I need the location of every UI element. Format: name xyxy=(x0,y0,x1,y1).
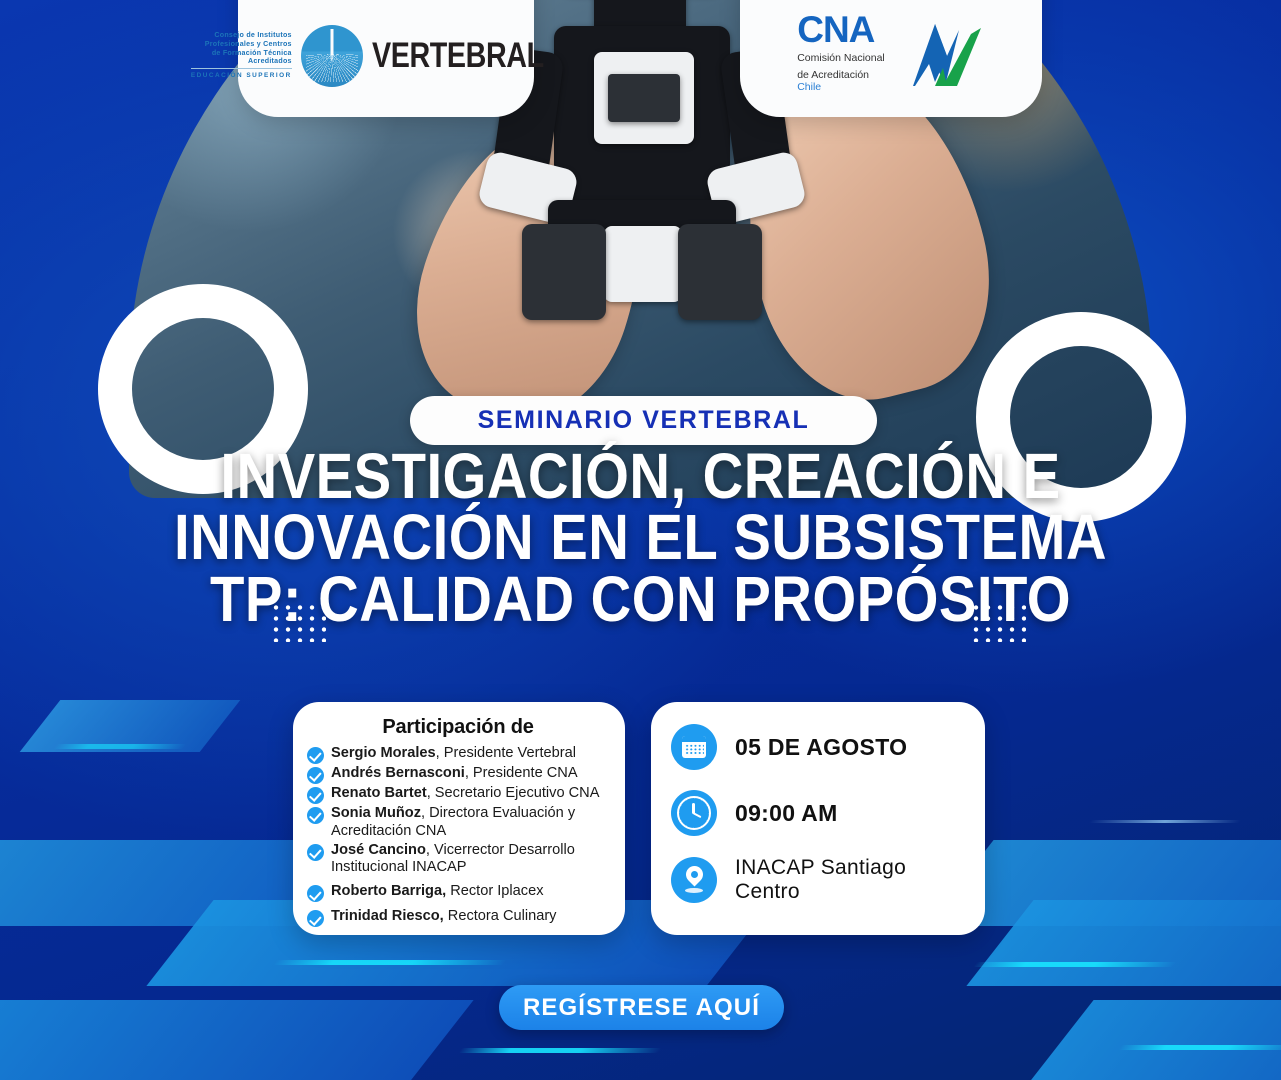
detail-row-location: INACAP Santiago Centro xyxy=(671,856,965,903)
vertebral-tagline: EDUCACIÓN SUPERIOR xyxy=(191,72,292,80)
vertebral-wordmark: VERTEBRAL xyxy=(372,36,544,76)
participant-role: , Presidente Vertebral xyxy=(436,745,576,761)
participant-name: Trinidad Riesco, xyxy=(331,908,444,924)
diagonal-glow-line xyxy=(273,960,507,965)
participant-name: Renato Bartet xyxy=(331,785,427,801)
cna-name-line2: de Acreditación xyxy=(797,69,885,81)
participant-name: Sonia Muñoz xyxy=(331,805,421,821)
dot-grid-left-icon xyxy=(268,600,326,642)
list-item: José Cancino, Vicerrector Desarrollo Ins… xyxy=(307,842,609,878)
check-icon xyxy=(307,844,324,861)
diagonal-glow-line xyxy=(1118,1045,1281,1050)
event-time: 09:00 AM xyxy=(735,800,838,827)
register-button[interactable]: REGÍSTRESE AQUÍ xyxy=(499,985,784,1030)
diagonal-bar xyxy=(20,700,241,752)
dot-grid-right-icon xyxy=(968,600,1026,642)
check-icon xyxy=(307,787,324,804)
detail-row-date: 05 DE AGOSTO xyxy=(671,724,965,770)
vertebral-descriptor-line1: Consejo de Institutos xyxy=(191,31,292,40)
diagonal-glow-line xyxy=(973,962,1177,967)
seminar-eyebrow-label: SEMINARIO VERTEBRAL xyxy=(478,406,810,435)
participant-role: , Presidente CNA xyxy=(465,765,578,781)
list-item: Andrés Bernasconi, Presidente CNA xyxy=(307,765,609,784)
vertebral-roots-icon xyxy=(301,25,363,87)
logo-card-cna: CNA Comisión Nacional de Acreditación Ch… xyxy=(740,0,1042,117)
calendar-icon xyxy=(671,724,717,770)
cna-mark-icon xyxy=(885,16,985,90)
list-item: Roberto Barriga, Rector Iplacex xyxy=(307,883,609,902)
participant-name: Roberto Barriga, xyxy=(331,883,446,899)
participant-role: , Secretario Ejecutivo CNA xyxy=(427,785,600,801)
detail-row-time: 09:00 AM xyxy=(671,790,965,836)
check-icon xyxy=(307,747,324,764)
cna-acronym: CNA xyxy=(797,13,885,46)
list-item: Trinidad Riesco, Rectora Culinary xyxy=(307,908,609,927)
list-item: Sonia Muñoz, Directora Evaluación y Acre… xyxy=(307,805,609,841)
event-details-card: 05 DE AGOSTO 09:00 AM INACAP Santiago Ce… xyxy=(651,702,985,935)
page-title-line-2: INNOVACIÓN EN EL SUBSISTEMA xyxy=(77,507,1204,568)
participant-name: Andrés Bernasconi xyxy=(331,765,465,781)
check-icon xyxy=(307,885,324,902)
diagonal-bar xyxy=(0,1000,474,1080)
vertebral-descriptor-line4: Acreditados xyxy=(191,57,292,66)
participants-title: Participación de xyxy=(307,716,609,739)
diagonal-glow-line xyxy=(53,744,187,749)
seminar-eyebrow-pill: SEMINARIO VERTEBRAL xyxy=(410,396,877,445)
event-location: INACAP Santiago Centro xyxy=(735,856,965,903)
check-icon xyxy=(307,910,324,927)
page-title: INVESTIGACIÓN, CREACIÓN E INNOVACIÓN EN … xyxy=(0,446,1281,630)
event-poster: Consejo de Institutos Profesionales y Ce… xyxy=(0,0,1281,1080)
vertebral-descriptor-line2: Profesionales y Centros xyxy=(191,40,292,49)
participants-list: Sergio Morales, Presidente Vertebral And… xyxy=(307,745,609,927)
participant-role: Rector Iplacex xyxy=(446,883,543,899)
participant-role: Rectora Culinary xyxy=(444,908,557,924)
cna-country: Chile xyxy=(797,81,885,93)
check-icon xyxy=(307,807,324,824)
list-item: Renato Bartet, Secretario Ejecutivo CNA xyxy=(307,785,609,804)
participant-name: José Cancino xyxy=(331,842,426,858)
vertebral-descriptor: Consejo de Institutos Profesionales y Ce… xyxy=(191,31,292,79)
cna-name-line1: Comisión Nacional xyxy=(797,52,885,64)
register-button-label: REGÍSTRESE AQUÍ xyxy=(523,994,760,1022)
page-title-line-3: TP: CALIDAD CON PROPÓSITO xyxy=(77,569,1204,630)
diagonal-glow-line xyxy=(458,1048,662,1053)
map-pin-icon xyxy=(671,857,717,903)
diagonal-bar xyxy=(1026,1000,1281,1080)
event-date: 05 DE AGOSTO xyxy=(735,734,907,761)
diagonal-thin-line xyxy=(1089,820,1241,823)
diagonal-bar xyxy=(966,900,1281,986)
logo-card-vertebral: Consejo de Institutos Profesionales y Ce… xyxy=(238,0,534,117)
clock-icon xyxy=(671,790,717,836)
participants-card: Participación de Sergio Morales, Preside… xyxy=(293,702,625,935)
page-title-line-1: INVESTIGACIÓN, CREACIÓN E xyxy=(77,446,1204,507)
divider xyxy=(191,68,292,69)
check-icon xyxy=(307,767,324,784)
participant-name: Sergio Morales xyxy=(331,745,436,761)
vertebral-descriptor-line3: de Formación Técnica xyxy=(191,49,292,58)
list-item: Sergio Morales, Presidente Vertebral xyxy=(307,745,609,764)
